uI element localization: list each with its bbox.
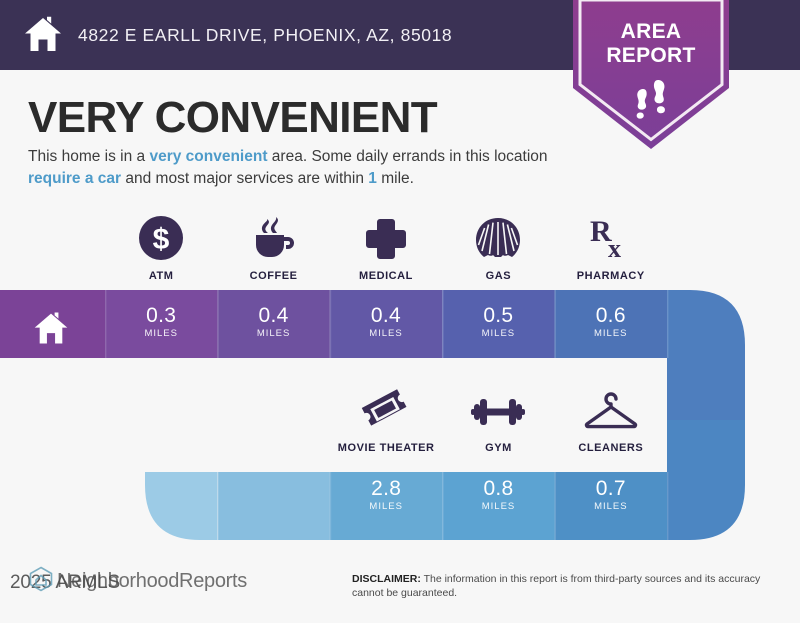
summary-highlight-2: require a car [28, 170, 121, 187]
amenity-label: MOVIE THEATER [338, 442, 435, 454]
coffee-cup-icon [250, 213, 298, 261]
medical-cross-icon [364, 213, 408, 261]
amenity-gas: GAS [442, 213, 554, 282]
property-address: 4822 E EARLL DRIVE, PHOENIX, AZ, 85018 [78, 25, 452, 46]
amenity-icon-row-2: MOVIE THEATER GYM CLEANERS [330, 385, 667, 454]
amenity-label: ATM [149, 270, 174, 282]
summary-part-3: and most major services are within [121, 170, 368, 187]
home-icon [22, 14, 64, 56]
amenity-label: CLEANERS [578, 442, 643, 454]
summary-highlight-1: very convenient [149, 148, 267, 165]
amenity-gym: GYM [442, 385, 554, 454]
svg-text:x: x [608, 234, 621, 261]
amenity-label: MEDICAL [359, 270, 413, 282]
disclaimer: DISCLAIMER: The information in this repo… [352, 572, 784, 600]
amenity-label: COFFEE [250, 270, 298, 282]
disclaimer-label: DISCLAIMER: [352, 573, 421, 585]
area-report-badge: AREA REPORT [573, 0, 729, 150]
summary-part-4: mile. [377, 170, 414, 187]
amenity-icon-row-1: $ ATM COFFEE MEDICAL [105, 213, 667, 282]
amenity-coffee: COFFEE [217, 213, 329, 282]
ribbon-home-icon-wrap [32, 310, 70, 353]
amenity-label: PHARMACY [577, 270, 645, 282]
amenity-label: GAS [486, 270, 512, 282]
svg-text:$: $ [153, 223, 170, 256]
dollar-circle-icon: $ [138, 213, 184, 261]
amenity-cleaners: CLEANERS [555, 385, 667, 454]
pharmacy-rx-icon: R x [588, 213, 634, 261]
amenity-pharmacy: R x PHARMACY [555, 213, 667, 282]
summary-highlight-3: 1 [368, 170, 377, 187]
gas-shell-icon [475, 213, 521, 261]
movie-ticket-icon [360, 385, 412, 433]
hanger-icon [583, 385, 639, 433]
amenity-atm: $ ATM [105, 213, 217, 282]
home-icon [32, 335, 70, 352]
dumbbell-icon [471, 385, 525, 433]
amenity-medical: MEDICAL [330, 213, 442, 282]
summary-part-2: area. Some daily errands in this locatio… [268, 148, 548, 165]
amenity-movie-theater: MOVIE THEATER [330, 385, 442, 454]
summary-text: This home is in a very convenient area. … [28, 146, 573, 190]
page-title: VERY CONVENIENT [28, 93, 437, 143]
amenity-label: GYM [485, 442, 512, 454]
summary-part-1: This home is in a [28, 148, 149, 165]
distance-ribbon [0, 290, 800, 618]
